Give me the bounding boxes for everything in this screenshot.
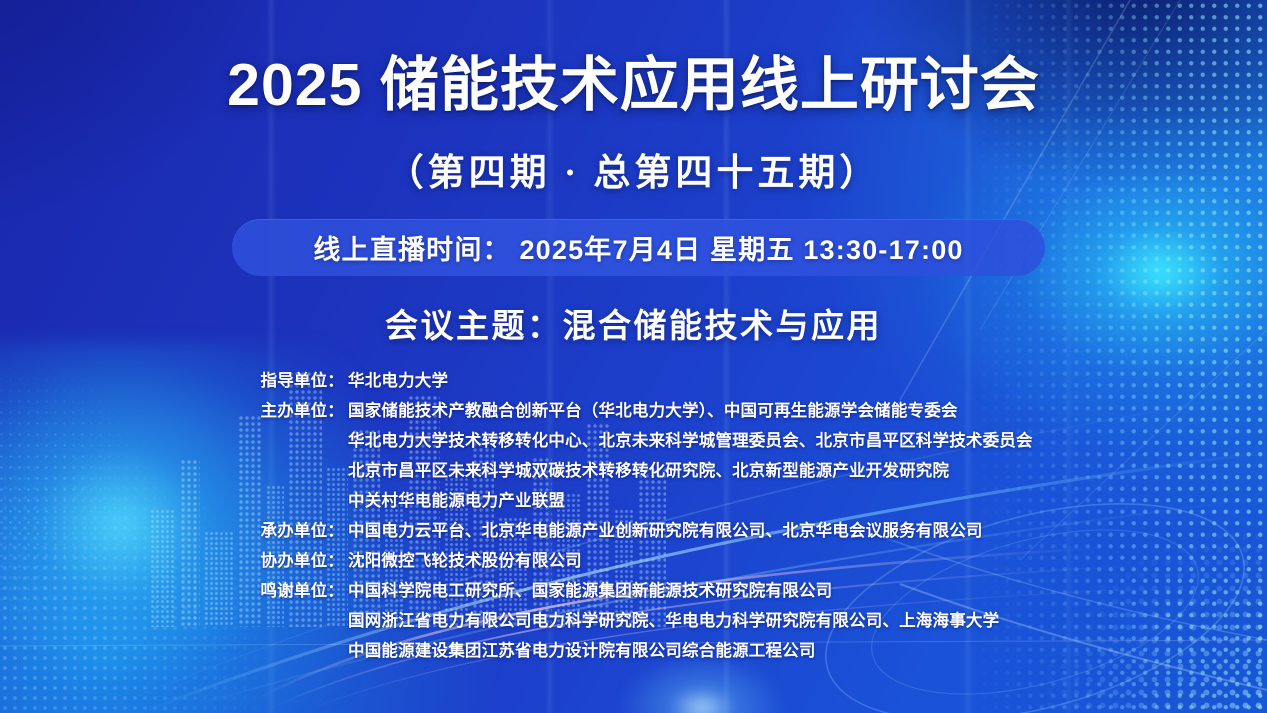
organization-row: 指导单位：华北电力大学 <box>0 367 1267 397</box>
organization-row: 协办单位：沈阳微控飞轮技术股份有限公司 <box>0 547 1267 577</box>
organization-row: 国网浙江省电力有限公司电力科学研究院、华电电力科学研究院有限公司、上海海事大学 <box>0 607 1267 637</box>
organization-label: 承办单位： <box>0 517 348 541</box>
broadcast-time-text: 线上直播时间： 2025年7月4日 星期五 13:30-17:00 <box>313 228 963 267</box>
page-subtitle: （第四期 · 总第四十五期） <box>0 142 1267 196</box>
webinar-poster: 2025 储能技术应用线上研讨会 （第四期 · 总第四十五期） 线上直播时间： … <box>0 0 1267 713</box>
organization-value: 中国能源建设集团江苏省电力设计院有限公司综合能源工程公司 <box>348 637 1267 661</box>
poster-content: 2025 储能技术应用线上研讨会 （第四期 · 总第四十五期） 线上直播时间： … <box>0 0 1267 713</box>
organization-value: 华北电力大学 <box>348 367 1267 391</box>
organization-value: 沈阳微控飞轮技术股份有限公司 <box>348 547 1267 571</box>
organization-value: 国家储能技术产教融合创新平台（华北电力大学）、中国可再生能源学会储能专委会 <box>348 397 1267 421</box>
broadcast-time-banner: 线上直播时间： 2025年7月4日 星期五 13:30-17:00 <box>232 219 1045 276</box>
organization-label: 鸣谢单位： <box>0 577 348 601</box>
organization-row: 中国能源建设集团江苏省电力设计院有限公司综合能源工程公司 <box>0 637 1267 667</box>
page-title: 2025 储能技术应用线上研讨会 <box>0 52 1267 118</box>
organization-row: 承办单位：中国电力云平台、北京华电能源产业创新研究院有限公司、北京华电会议服务有… <box>0 517 1267 547</box>
organization-row: 中关村华电能源电力产业联盟 <box>0 487 1267 517</box>
organization-label: 主办单位： <box>0 397 348 421</box>
organization-value: 国网浙江省电力有限公司电力科学研究院、华电电力科学研究院有限公司、上海海事大学 <box>348 607 1267 631</box>
organization-label: 协办单位： <box>0 547 348 571</box>
organization-row: 华北电力大学技术转移转化中心、北京未来科学城管理委员会、北京市昌平区科学技术委员… <box>0 427 1267 457</box>
conference-theme: 会议主题：混合储能技术与应用 <box>0 299 1267 347</box>
organization-label: 指导单位： <box>0 367 348 391</box>
organization-value: 中国科学院电工研究所、国家能源集团新能源技术研究院有限公司 <box>348 577 1267 601</box>
organization-row: 北京市昌平区未来科学城双碳技术转移转化研究院、北京新型能源产业开发研究院 <box>0 457 1267 487</box>
organization-row: 主办单位：国家储能技术产教融合创新平台（华北电力大学）、中国可再生能源学会储能专… <box>0 397 1267 427</box>
organization-value: 中关村华电能源电力产业联盟 <box>348 487 1267 511</box>
organization-value: 中国电力云平台、北京华电能源产业创新研究院有限公司、北京华电会议服务有限公司 <box>348 517 1267 541</box>
organization-value: 北京市昌平区未来科学城双碳技术转移转化研究院、北京新型能源产业开发研究院 <box>348 457 1267 481</box>
organization-list: 指导单位：华北电力大学主办单位：国家储能技术产教融合创新平台（华北电力大学）、中… <box>0 367 1267 667</box>
organization-row: 鸣谢单位：中国科学院电工研究所、国家能源集团新能源技术研究院有限公司 <box>0 577 1267 607</box>
organization-value: 华北电力大学技术转移转化中心、北京未来科学城管理委员会、北京市昌平区科学技术委员… <box>348 427 1267 451</box>
